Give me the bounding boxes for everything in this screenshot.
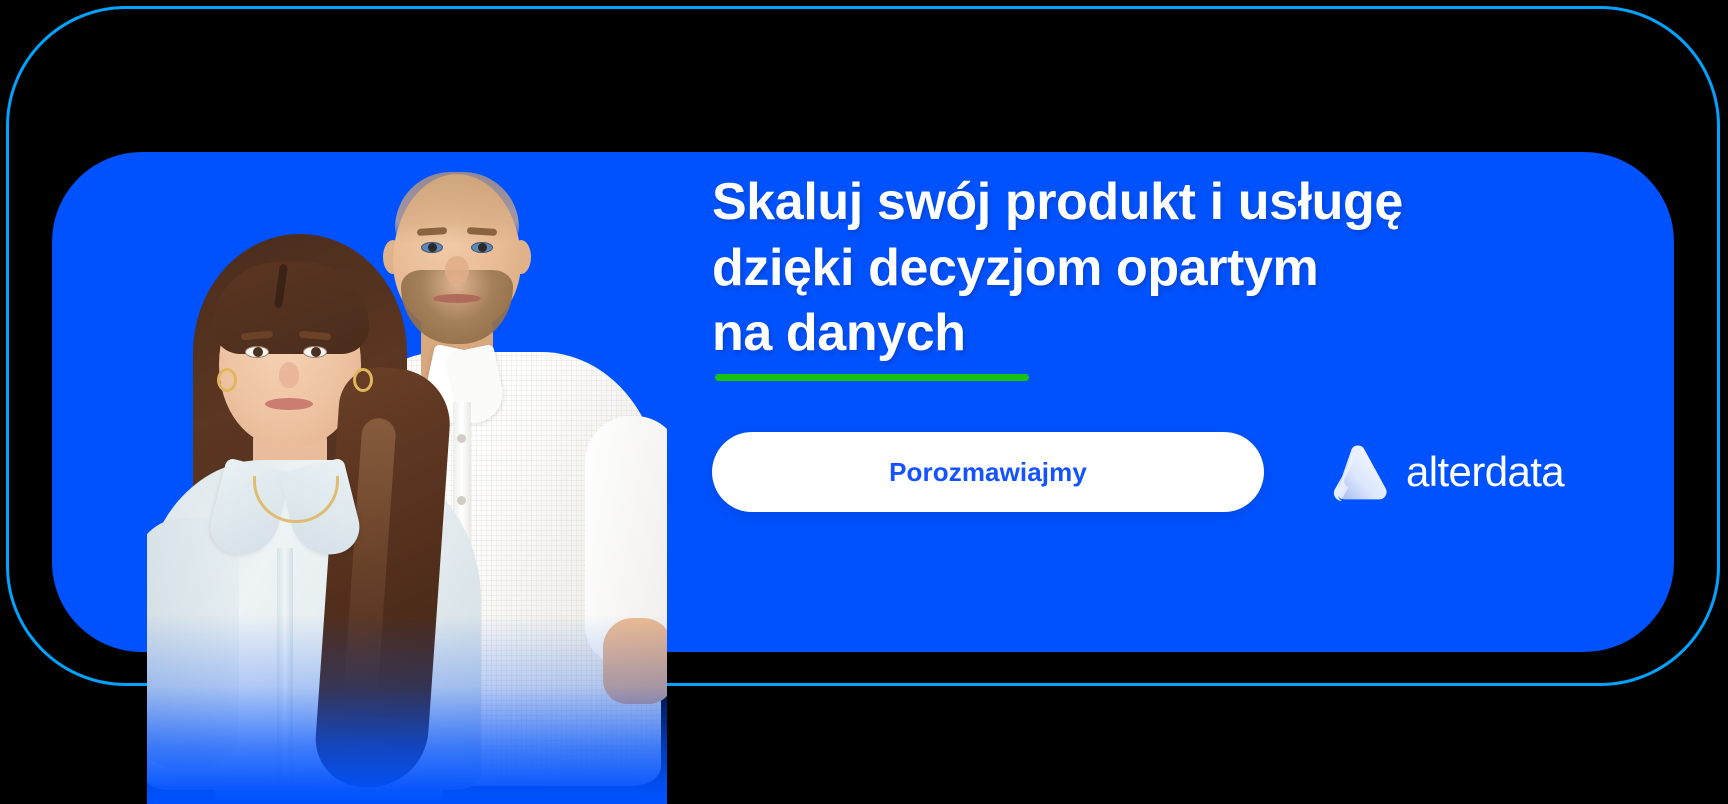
banner-root: Skaluj swój produkt i usługę dzięki decy…	[0, 0, 1728, 694]
woman-eyebrow-left	[241, 331, 273, 341]
man-shirt-button	[457, 558, 466, 567]
woman-necklace	[253, 476, 339, 523]
woman-eye-left	[245, 346, 269, 358]
woman-earring-left	[217, 368, 237, 392]
man-shirt	[331, 352, 661, 786]
woman-mouth	[265, 398, 313, 410]
alterdata-a-mark-icon	[1328, 440, 1392, 504]
man-hand	[603, 618, 667, 704]
man-scalp	[395, 172, 519, 244]
woman-portrait	[157, 228, 517, 788]
woman-nose	[279, 362, 299, 388]
banner-card: Skaluj swój produkt i usługę dzięki decy…	[52, 152, 1674, 652]
cta-row: Porozmawiajmy	[712, 424, 1632, 520]
woman-hair-ponytail	[312, 365, 453, 792]
brand-wordmark: alterdata	[1406, 451, 1564, 493]
man-arm	[585, 416, 667, 666]
people-photo	[147, 166, 667, 804]
woman-collar-left	[205, 457, 291, 562]
woman-arm	[147, 518, 239, 768]
photo-bottom-fade	[147, 614, 667, 804]
woman-hair-part	[274, 264, 288, 309]
man-beard	[401, 270, 513, 344]
woman-eyebrow-right	[299, 331, 331, 341]
woman-blouse-placket	[277, 548, 293, 788]
man-portrait	[335, 166, 655, 786]
man-collar-right	[446, 344, 508, 426]
man-shirt-texture	[331, 352, 661, 786]
woman-blouse	[147, 460, 481, 790]
woman-collar-right	[279, 457, 365, 562]
banner-content: Skaluj swój produkt i usługę dzięki decy…	[712, 152, 1632, 652]
banner-headline: Skaluj swój produkt i usługę dzięki decy…	[712, 170, 1403, 367]
man-shirt-placket	[453, 402, 471, 702]
porozmawiajmy-button[interactable]: Porozmawiajmy	[712, 432, 1264, 512]
woman-neck	[253, 426, 327, 496]
man-ear-right	[511, 240, 531, 274]
man-collar-left	[420, 344, 482, 426]
man-eye-right	[471, 242, 493, 253]
people-photo-stage	[147, 166, 667, 804]
man-eye-left	[421, 242, 443, 253]
man-nose	[445, 256, 469, 284]
woman-hair-front	[213, 262, 369, 354]
brand-lockup[interactable]: alterdata	[1328, 440, 1564, 504]
woman-hair-back	[193, 234, 407, 664]
woman-eye-right	[303, 346, 327, 358]
green-accent-rule	[715, 374, 1029, 381]
man-ear-left	[383, 240, 403, 274]
man-eyebrow-left	[417, 227, 447, 236]
woman-hair-highlight	[343, 417, 396, 699]
man-shirt-button	[457, 496, 466, 505]
man-eyebrow-right	[467, 227, 497, 236]
man-neck	[421, 314, 493, 386]
woman-trousers	[215, 748, 443, 804]
man-shirt-button	[457, 434, 466, 443]
man-mouth	[433, 294, 481, 303]
woman-earring-right	[353, 368, 373, 392]
man-head	[393, 174, 521, 332]
woman-head	[219, 270, 361, 446]
